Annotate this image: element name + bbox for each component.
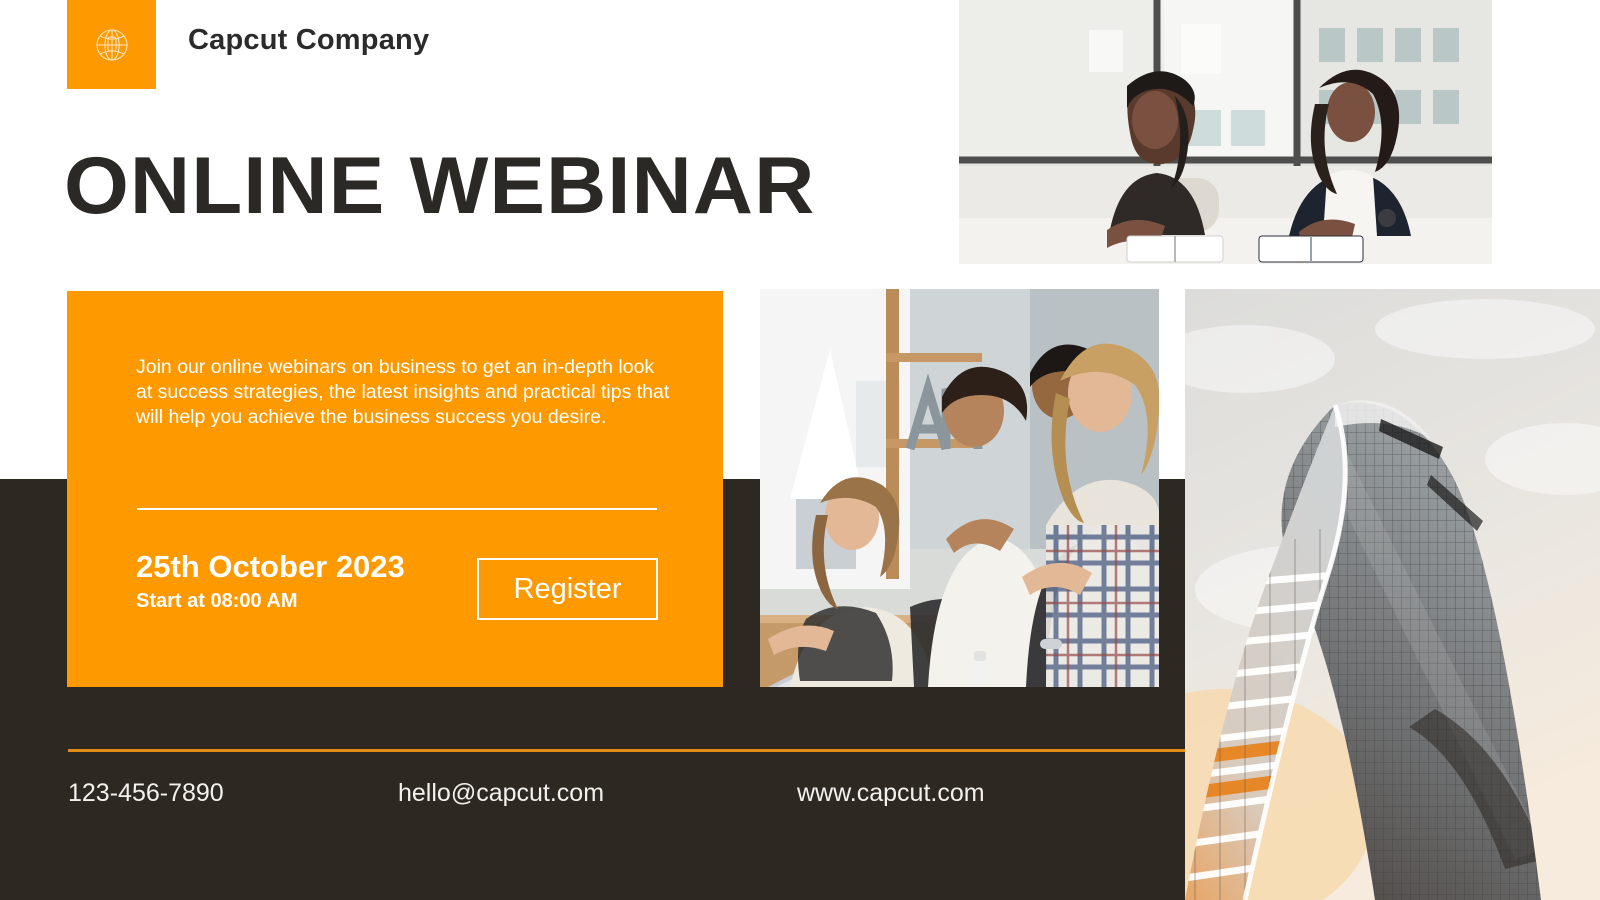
footer-divider xyxy=(68,749,1185,752)
globe-icon xyxy=(90,23,134,67)
photo-two-women-meeting xyxy=(959,0,1492,264)
company-name: Capcut Company xyxy=(188,24,429,57)
event-date: 25th October 2023 xyxy=(136,549,405,585)
contact-website[interactable]: www.capcut.com xyxy=(797,779,985,808)
contact-email[interactable]: hello@capcut.com xyxy=(398,779,604,808)
register-button[interactable]: Register xyxy=(477,558,658,620)
event-time: Start at 08:00 AM xyxy=(136,590,298,613)
panel-description: Join our online webinars on business to … xyxy=(136,355,670,430)
photo-team-collaboration xyxy=(760,289,1159,687)
page-title: ONLINE WEBINAR xyxy=(64,146,815,227)
webinar-poster: Capcut Company ONLINE WEBINAR Join our o… xyxy=(0,0,1600,900)
photo-skyscraper xyxy=(1185,289,1600,900)
contact-phone[interactable]: 123-456-7890 xyxy=(68,779,224,808)
info-panel: Join our online webinars on business to … xyxy=(67,291,723,687)
logo-tile xyxy=(67,0,156,89)
panel-divider xyxy=(137,508,657,510)
